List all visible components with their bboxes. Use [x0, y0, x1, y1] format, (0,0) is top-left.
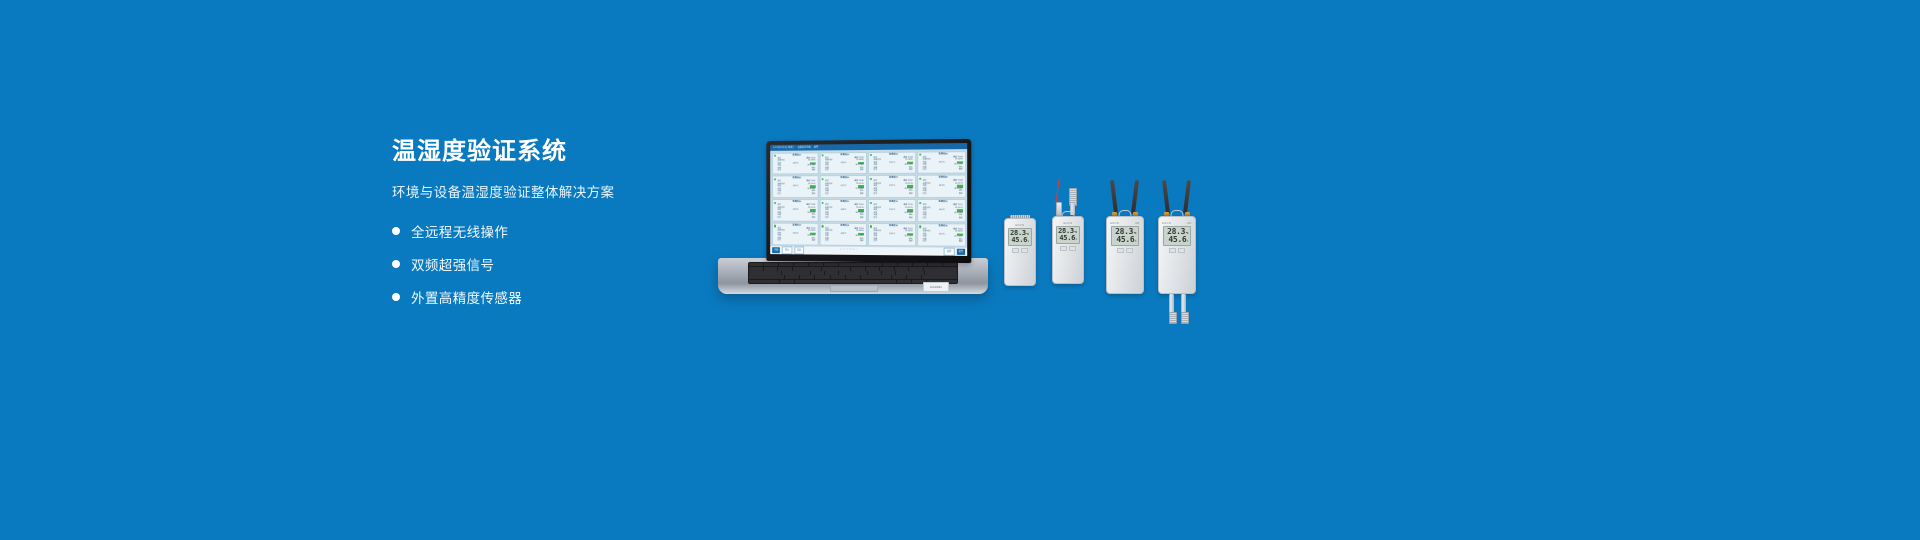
settings-button[interactable]: 设置 [944, 248, 955, 256]
panel-row: 信号良好 [923, 193, 964, 196]
feature-label: 全远程无线操作 [411, 221, 508, 241]
device-key[interactable] [1069, 246, 1076, 251]
status-dot-icon [919, 154, 921, 156]
panel-row-value: 23.5℃ [939, 161, 945, 164]
alarm-button[interactable]: 报警 [957, 249, 966, 255]
panel-row-value: 良好 [909, 193, 913, 196]
panel-row-value: 良好 [909, 217, 913, 220]
feature-list: 全远程无线操作 双频超强信号 外置高精度传感器 [392, 221, 732, 307]
probe-connector [1056, 202, 1062, 216]
device-key[interactable] [1117, 248, 1124, 253]
laptop-touchpad [830, 285, 878, 292]
panel-row: 信号良好 [825, 193, 864, 196]
panel-row-value: 良好 [959, 241, 963, 244]
panel-row: 信号良好 [825, 240, 864, 243]
device-keypad[interactable] [1169, 248, 1185, 253]
panel-row-key: 信号 [825, 193, 829, 195]
feature-label: 外置高精度传感器 [411, 287, 522, 307]
panel-row-key: 信号 [923, 193, 927, 196]
lcd-display: 28.3 ℃ 45.6 % [1163, 226, 1191, 246]
device-key[interactable] [1169, 248, 1176, 253]
antenna-icon [1183, 180, 1191, 214]
panel-row-key: 信号 [825, 240, 829, 243]
laptop-lid: 2021年9月1日 星期三 设备监控列表 报警 监测点01编号温度 TY-01采… [766, 139, 971, 263]
panel-row-value: 良好 [812, 169, 816, 171]
data-logger-3: ENCN HR 28.3 ℃ 45.6 % [1106, 182, 1144, 294]
device-brand: ENCN [1064, 222, 1073, 225]
panel-row-value: 23.3℃ [793, 209, 799, 211]
panel-row-value: 良好 [860, 240, 864, 243]
device-model: HR [1135, 222, 1140, 225]
monitor-panel[interactable]: 监测点10编号温度 TY-10采集时间11:20:05温度24.8℃正常湿度46… [819, 199, 866, 222]
panel-row: 信号良好 [923, 217, 964, 220]
panel-row-key: 信号 [923, 169, 927, 172]
panel-row-key: 信号 [777, 240, 781, 242]
panel-row-key: 信号 [873, 169, 877, 172]
panel-row-value: 23.2℃ [889, 233, 895, 236]
monitor-panel[interactable]: 监测点05编号温度 TY-05采集时间11:20:05温度23.9℃正常湿度45… [772, 175, 819, 198]
status-dot-icon [919, 178, 921, 180]
panel-row-key: 信号 [777, 169, 781, 171]
humidity-reading: 45.6 % [1116, 236, 1136, 244]
hero-text-block: 温湿度验证系统 环境与设备温湿度验证整体解决方案 全远程无线操作 双频超强信号 … [392, 138, 732, 320]
start-button[interactable]: 开始 [772, 247, 780, 253]
status-dot-icon [774, 155, 776, 157]
monitor-panel[interactable]: 监测点08编号温度 TY-08采集时间11:20:05温度24.4℃正常湿度46… [917, 175, 966, 198]
probe-tip-icon [1169, 312, 1177, 324]
keyboard-row [749, 271, 957, 274]
panel-row-key: 信号 [923, 241, 927, 244]
lcd-display: 28.3 ℃ 45.6 % [1008, 228, 1031, 246]
humidity-value: 45.6 [1059, 235, 1075, 242]
antenna-icon [1110, 180, 1118, 214]
humidity-value: 45.6 [1168, 236, 1186, 244]
logger-body: ENCN 28.3 ℃ 45.6 % [1004, 218, 1036, 286]
monitor-panel[interactable]: 监测点06编号温度 TY-06采集时间11:20:05温度25.2℃正常湿度47… [819, 175, 866, 198]
panel-row-value: 24.6℃ [841, 233, 847, 236]
panel-row-value: 良好 [909, 241, 913, 244]
status-dot-icon [919, 202, 921, 204]
probe-tip-icon [1181, 312, 1189, 324]
monitor-panel[interactable]: 监测点07编号温度 TY-07采集时间11:20:05温度23.7℃正常湿度45… [867, 175, 915, 198]
stop-button[interactable]: 停止 [782, 246, 792, 254]
humidity-value: 45.6 [1011, 237, 1027, 244]
panel-row: 信号良好 [873, 193, 913, 196]
device-key[interactable] [1021, 248, 1028, 253]
lcd-display: 28.3 ℃ 45.6 % [1056, 226, 1079, 244]
monitor-panel[interactable]: 监测点04编号温度 TY-04采集时间11:20:05温度23.5℃正常湿度45… [917, 151, 966, 174]
panel-row: 信号良好 [873, 217, 913, 220]
panel-row: 信号良好 [777, 193, 816, 196]
status-dot-icon [774, 225, 776, 227]
status-dot-icon [821, 201, 823, 203]
device-keypad[interactable] [1012, 248, 1028, 253]
status-dot-icon [821, 154, 823, 156]
humidity-reading: 45.6 % [1168, 236, 1188, 244]
bar-spacer [806, 249, 942, 252]
humidity-unit: % [1028, 241, 1029, 243]
panel-row-value: 良好 [959, 168, 963, 171]
humidity-reading: 45.6 % [1059, 235, 1076, 242]
logger-body: ENCN HR 28.3 ℃ 45.6 % [1106, 216, 1144, 294]
bullet-dot-icon [392, 293, 400, 301]
status-dot-icon [869, 178, 871, 180]
status-dot-icon [869, 225, 871, 227]
panel-row-value: 24.4℃ [939, 185, 945, 188]
panel-row-value: 24.8℃ [841, 209, 847, 211]
laptop-screen: 2021年9月1日 星期三 设备监控列表 报警 监测点01编号温度 TY-01采… [770, 143, 967, 256]
device-key[interactable] [1012, 248, 1019, 253]
laptop-brand-logo: HUAWEI [840, 247, 858, 251]
panel-row-value: 良好 [909, 169, 913, 172]
device-brand: ENCN [1110, 222, 1119, 225]
page-subtitle: 环境与设备温湿度验证整体解决方案 [392, 181, 732, 201]
status-dot-icon [821, 225, 823, 227]
panel-row: 信号良好 [777, 240, 816, 243]
humidity-reading: 45.6 % [1011, 237, 1028, 244]
device-key[interactable] [1060, 246, 1067, 251]
panel-row-value: 25.2℃ [841, 185, 847, 188]
humidity-value: 45.6 [1116, 236, 1134, 244]
list-item: 全远程无线操作 [392, 221, 732, 241]
device-keypad[interactable] [1117, 248, 1133, 253]
monitor-panel[interactable]: 监测点02编号温度 TY-02采集时间11:20:05温度23.8℃正常湿度46… [819, 152, 866, 175]
device-brand: ENCN [1162, 222, 1171, 225]
monitor-panel[interactable]: 监测点13编号温度 TY-13采集时间11:20:05温度23.4℃正常湿度44… [772, 222, 819, 245]
antenna-icon [1131, 180, 1139, 214]
monitor-panel-grid: 监测点01编号温度 TY-01采集时间11:20:05温度23.6℃正常湿度45… [770, 149, 967, 248]
panel-row-key: 信号 [923, 217, 927, 220]
panel-row-key: 信号 [777, 193, 781, 195]
device-model: HR [1187, 222, 1192, 225]
status-dot-icon [869, 202, 871, 204]
bullet-dot-icon [392, 227, 400, 235]
device-group: ENCN 28.3 ℃ 45.6 % [1000, 178, 1220, 308]
feature-label: 双频超强信号 [411, 254, 494, 274]
device-key[interactable] [1178, 248, 1185, 253]
export-button[interactable]: 导出 [794, 246, 804, 254]
monitor-panel[interactable]: 监测点15编号温度 TY-15采集时间11:20:05温度23.2℃正常湿度45… [867, 223, 915, 246]
laptop-sticker: HUAWEI [923, 282, 949, 292]
panel-row: 信号良好 [825, 169, 864, 172]
hero-banner: 温湿度验证系统 环境与设备温湿度验证整体解决方案 全远程无线操作 双频超强信号 … [0, 0, 1920, 540]
device-brand: ENCN [1016, 224, 1025, 227]
page-title: 温湿度验证系统 [392, 138, 732, 167]
list-item: 外置高精度传感器 [392, 287, 732, 307]
panel-row-value: 24.0℃ [939, 209, 945, 212]
panel-row-key: 信号 [873, 217, 877, 220]
status-dot-icon [869, 154, 871, 156]
data-logger-2: ENCN 28.3 ℃ 45.6 % [1052, 206, 1084, 284]
panel-row-value: 良好 [860, 169, 864, 172]
device-key[interactable] [1126, 248, 1133, 253]
panel-row-key: 信号 [825, 169, 829, 172]
status-dot-icon [821, 178, 823, 180]
panel-row: 信号良好 [873, 169, 913, 172]
monitor-panel[interactable]: 监测点01编号温度 TY-01采集时间11:20:05温度23.6℃正常湿度45… [772, 152, 819, 175]
list-item: 双频超强信号 [392, 254, 732, 274]
panel-row: 信号良好 [777, 216, 816, 219]
panel-row-value: 良好 [959, 193, 963, 196]
panel-row: 信号良好 [873, 240, 913, 243]
laptop-product-image: 2021年9月1日 星期三 设备监控列表 报警 监测点01编号温度 TY-01采… [718, 140, 988, 300]
panel-row: 信号良好 [825, 216, 864, 219]
data-logger-4: ENCN HR 28.3 ℃ 45.6 % [1158, 182, 1196, 294]
panel-row-value: 良好 [860, 216, 864, 219]
lcd-display: 28.3 ℃ 45.6 % [1111, 226, 1139, 246]
panel-row-key: 信号 [825, 216, 829, 218]
monitor-panel[interactable]: 监测点16编号温度 TY-16采集时间11:20:05温度24.2℃正常湿度45… [917, 223, 966, 246]
status-dot-icon [774, 201, 776, 203]
status-dot-icon [919, 225, 921, 227]
bullet-dot-icon [392, 260, 400, 268]
panel-row-value: 良好 [812, 193, 816, 195]
monitor-panel[interactable]: 监测点14编号温度 TY-14采集时间11:20:05温度24.6℃正常湿度46… [819, 223, 866, 246]
panel-row-value: 23.7℃ [889, 185, 895, 188]
humidity-unit: % [1076, 239, 1077, 241]
status-dot-icon [774, 178, 776, 180]
panel-row-value: 23.9℃ [793, 185, 799, 187]
humidity-unit: % [1187, 241, 1188, 243]
panel-row-value: 良好 [959, 217, 963, 220]
panel-row-value: 23.8℃ [841, 162, 847, 165]
keyboard-row [749, 275, 957, 278]
panel-row-value: 良好 [812, 216, 816, 218]
data-logger-1: ENCN 28.3 ℃ 45.6 % [1004, 218, 1036, 286]
panel-row: 信号良好 [923, 241, 964, 244]
monitor-panel[interactable]: 监测点11编号温度 TY-11采集时间11:20:05温度23.1℃正常湿度45… [867, 199, 915, 222]
panel-row: 信号良好 [777, 169, 816, 172]
app-button-bar: 开始 停止 导出 设置 报警 [770, 246, 967, 256]
antenna-icon [1162, 180, 1170, 214]
keyboard-row [749, 267, 957, 270]
panel-row-key: 信号 [873, 240, 877, 243]
panel-row-key: 信号 [873, 193, 877, 196]
keyboard-row [749, 263, 957, 266]
monitor-panel[interactable]: 监测点12编号温度 TY-12采集时间11:20:05温度24.0℃正常湿度45… [917, 199, 966, 222]
laptop-keyboard [748, 262, 958, 284]
panel-row: 信号良好 [923, 168, 964, 171]
panel-row-value: 23.6℃ [793, 162, 799, 165]
panel-row-value: 24.1℃ [889, 161, 895, 164]
logger-body: ENCN HR 28.3 ℃ 45.6 % [1158, 216, 1196, 294]
panel-row-value: 23.4℃ [793, 232, 799, 235]
panel-row-value: 23.1℃ [889, 209, 895, 212]
monitor-panel[interactable]: 监测点03编号温度 TY-03采集时间11:20:05温度24.1℃正常湿度44… [867, 151, 915, 174]
monitor-panel[interactable]: 监测点09编号温度 TY-09采集时间11:20:05温度23.3℃正常湿度44… [772, 199, 819, 222]
panel-row-key: 信号 [777, 216, 781, 218]
device-keypad[interactable] [1060, 246, 1076, 251]
sensor-wire [1055, 178, 1060, 204]
panel-row-value: 良好 [812, 240, 816, 243]
panel-row-value: 24.2℃ [939, 233, 945, 236]
humidity-unit: % [1135, 241, 1136, 243]
logger-body: ENCN 28.3 ℃ 45.6 % [1052, 216, 1084, 284]
panel-row-value: 良好 [860, 193, 864, 196]
